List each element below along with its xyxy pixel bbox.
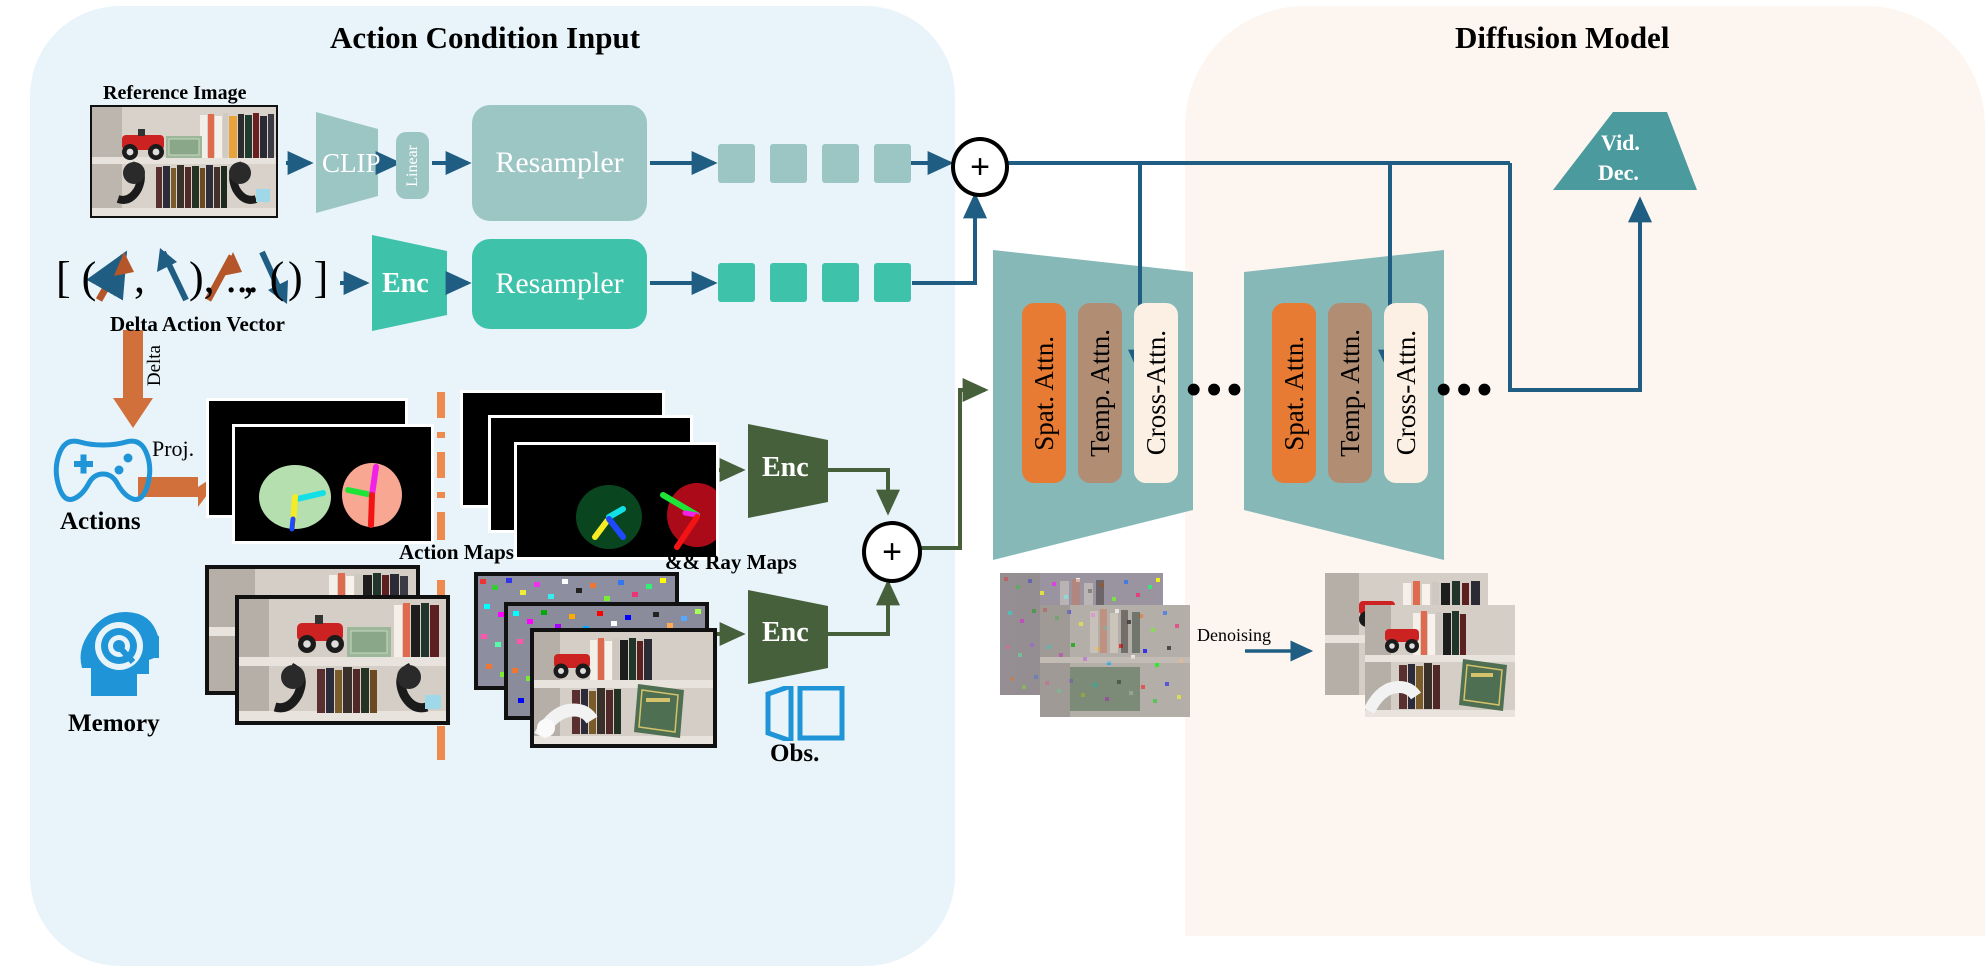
- denoising-label: Denoising: [1197, 625, 1271, 646]
- unet-0-attn-1-label: Temp. Attn.: [1085, 329, 1116, 457]
- enc-ray-label: Enc: [762, 452, 809, 484]
- memory-label: Memory: [68, 710, 160, 738]
- action-token-2: [822, 263, 859, 302]
- unet-0-attn-2: Cross-Attn.: [1134, 303, 1178, 483]
- action-vector-open-bracket: [ (: [56, 252, 96, 303]
- unet-1-attn-2-label: Cross-Attn.: [1391, 330, 1422, 455]
- reference-image-label: Reference Image: [103, 82, 246, 105]
- resampler-action-label: Resampler: [495, 267, 623, 301]
- action-vector-middle: ), ... (: [189, 252, 284, 303]
- unet-0-attn-0: Spat. Attn.: [1022, 303, 1066, 483]
- unet-0-ellipsis: •••: [1186, 368, 1247, 412]
- diagram-canvas: Action Condition Input Diffusion Model R…: [0, 0, 1988, 980]
- linear-block-label: Linear: [404, 145, 422, 187]
- action-token-3: [874, 263, 911, 302]
- unet-1-attn-2: Cross-Attn.: [1384, 303, 1428, 483]
- action-maps-label: Action Maps: [399, 540, 514, 565]
- sum-node-top: +: [951, 137, 1009, 197]
- unet-1-attn-1: Temp. Attn.: [1328, 303, 1372, 483]
- panel-left-title: Action Condition Input: [330, 20, 640, 56]
- sum-node-bottom-symbol: +: [882, 535, 902, 569]
- resampler-action-block: Resampler: [472, 239, 647, 329]
- camera-icon: [763, 686, 845, 741]
- gamepad-icon: [48, 432, 158, 504]
- sum-node-bottom: +: [862, 521, 922, 583]
- unet-0-attn-2-label: Cross-Attn.: [1141, 330, 1172, 455]
- memory-frame-front: [235, 595, 450, 725]
- denoise-input-front: [1040, 605, 1190, 717]
- vid-dec-line-2: Dec.: [1598, 160, 1639, 186]
- panel-right-title: Diffusion Model: [1455, 20, 1669, 56]
- action-map-front: [232, 424, 434, 544]
- obs-frame-front: [530, 628, 717, 748]
- enc-action-label: Enc: [382, 268, 429, 300]
- resampler-image-label: Resampler: [495, 146, 623, 180]
- unet-0-attn-0-label: Spat. Attn.: [1029, 336, 1060, 451]
- vid-dec-line-1: Vid.: [1601, 130, 1640, 156]
- unet-0-attn-1: Temp. Attn.: [1078, 303, 1122, 483]
- clip-block-label: CLIP: [322, 148, 381, 179]
- delta-arrow-text: Delta: [144, 345, 166, 386]
- memory-head-icon: [75, 600, 167, 704]
- image-token-3: [874, 144, 911, 183]
- actions-label: Actions: [60, 508, 141, 536]
- action-vector-comma-1: ,: [134, 252, 145, 303]
- unet-1-ellipsis: •••: [1436, 368, 1497, 412]
- unet-1-attn-1-label: Temp. Attn.: [1335, 329, 1366, 457]
- reference-image: [90, 105, 278, 218]
- image-token-2: [822, 144, 859, 183]
- ray-maps-label: && Ray Maps: [665, 550, 797, 575]
- denoise-output-front: [1365, 605, 1515, 717]
- image-token-0: [718, 144, 755, 183]
- image-token-1: [770, 144, 807, 183]
- sum-node-top-symbol: +: [970, 150, 990, 184]
- unet-1-attn-0: Spat. Attn.: [1272, 303, 1316, 483]
- action-vector-comma-2: ,: [243, 252, 254, 303]
- resampler-image-block: Resampler: [472, 105, 647, 221]
- action-token-0: [718, 263, 755, 302]
- linear-block: Linear: [396, 132, 429, 199]
- delta-action-vector-label: Delta Action Vector: [110, 312, 285, 337]
- obs-label: Obs.: [770, 740, 819, 768]
- unet-1-attn-0-label: Spat. Attn.: [1279, 336, 1310, 451]
- proj-label: Proj.: [152, 436, 194, 462]
- enc-obs-label: Enc: [762, 617, 809, 649]
- action-token-1: [770, 263, 807, 302]
- ray-map-front: [514, 442, 719, 560]
- delta-arrow-label: Delta: [144, 345, 166, 392]
- action-vector-close-bracket: ) ]: [288, 252, 328, 303]
